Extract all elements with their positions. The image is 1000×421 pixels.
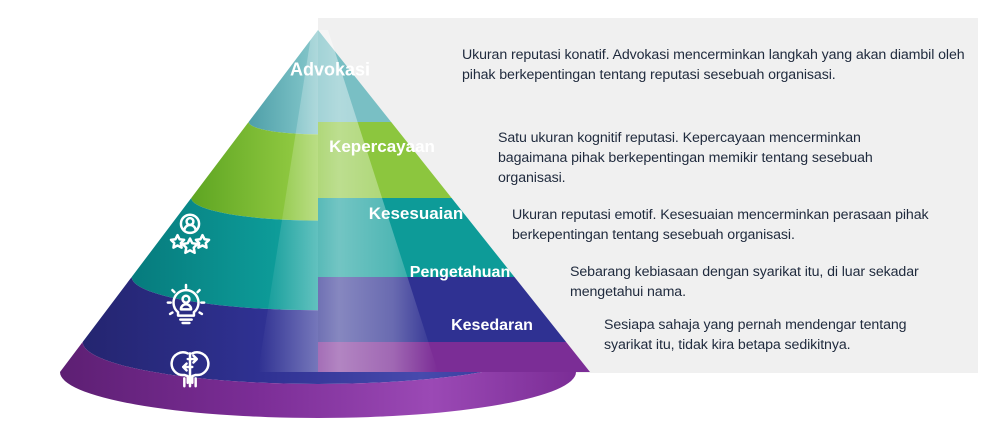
tier-label-5[interactable]: Kesedaran	[451, 317, 533, 335]
tier-label-4[interactable]: Pengetahuan	[410, 264, 510, 282]
tier-label-3[interactable]: Kesesuaian	[369, 204, 464, 224]
tier-description-1: Ukuran reputasi konatif. Advokasi mencer…	[462, 45, 978, 85]
tier-description-2: Satu ukuran kognitif reputasi. Kepercaya…	[498, 128, 910, 188]
tier-label-2[interactable]: Kepercayaan	[329, 137, 435, 157]
tier-label-1[interactable]: Advokasi	[290, 60, 370, 81]
tier-description-4: Sebarang kebiasaan dengan syarikat itu, …	[570, 262, 942, 302]
tier-description-3: Ukuran reputasi emotif. Kesesuaian mence…	[512, 205, 944, 245]
tier-description-5: Sesiapa sahaja yang pernah mendengar ten…	[604, 315, 944, 355]
handshake-icon	[178, 146, 217, 166]
gavel-icon	[191, 61, 222, 90]
pyramid-infographic: AdvokasiKepercayaanKesesuaianPengetahuan…	[0, 0, 1000, 421]
